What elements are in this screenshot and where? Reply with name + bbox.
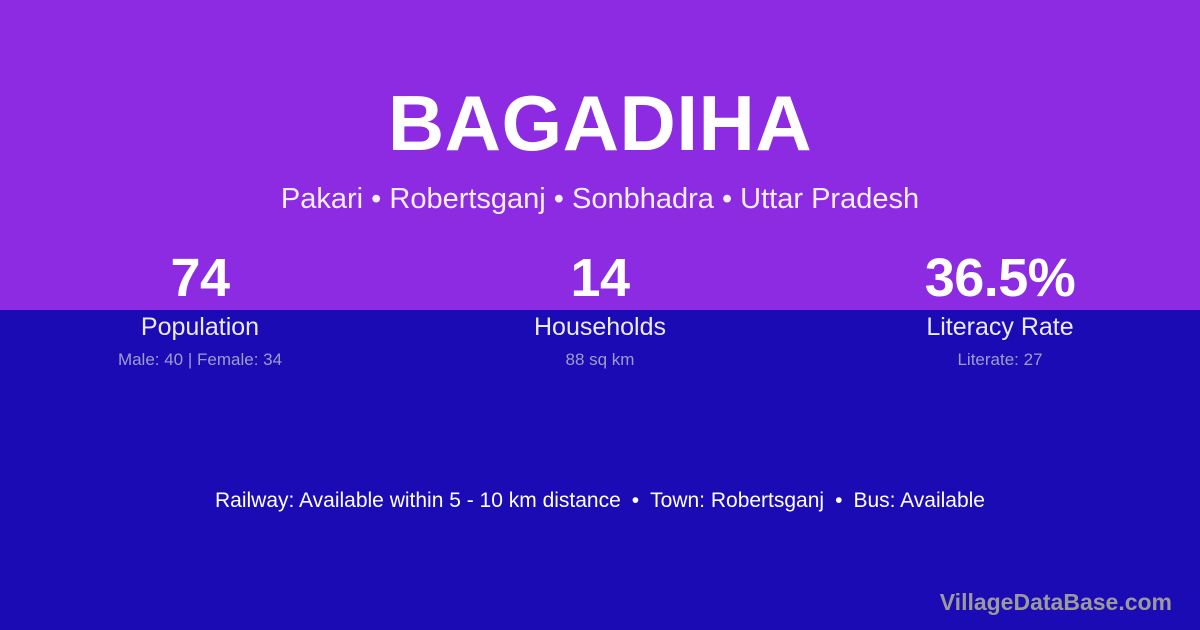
amenity-town: Town: Robertsganj xyxy=(650,489,824,512)
stat-population: 74 Population Male: 40 | Female: 34 xyxy=(0,246,400,371)
literacy-rate-label: Literacy Rate xyxy=(800,312,1200,342)
amenity-separator-1: • xyxy=(621,487,650,515)
amenity-railway: Railway: Available within 5 - 10 km dist… xyxy=(215,489,621,512)
households-value: 14 xyxy=(400,246,800,310)
households-detail: 88 sq km xyxy=(400,349,800,371)
amenities-line: Railway: Available within 5 - 10 km dist… xyxy=(0,487,1200,515)
stat-literacy-rate: 36.5% Literacy Rate Literate: 27 xyxy=(800,246,1200,371)
location-breadcrumb: Pakari • Robertsganj • Sonbhadra • Uttar… xyxy=(0,182,1200,217)
population-label: Population xyxy=(0,312,400,342)
site-watermark: VillageDataBase.com xyxy=(940,588,1172,616)
population-value: 74 xyxy=(0,246,400,310)
village-info-card: BAGADIHA Pakari • Robertsganj • Sonbhadr… xyxy=(0,0,1200,630)
stat-households: 14 Households 88 sq km xyxy=(400,246,800,371)
stats-row: 74 Population Male: 40 | Female: 34 14 H… xyxy=(0,246,1200,371)
page-title: BAGADIHA xyxy=(0,84,1200,162)
households-label: Households xyxy=(400,312,800,342)
amenity-separator-2: • xyxy=(824,487,853,515)
literacy-rate-detail: Literate: 27 xyxy=(800,349,1200,371)
population-detail: Male: 40 | Female: 34 xyxy=(0,349,400,371)
literacy-rate-value: 36.5% xyxy=(800,246,1200,310)
amenity-bus: Bus: Available xyxy=(853,489,985,512)
